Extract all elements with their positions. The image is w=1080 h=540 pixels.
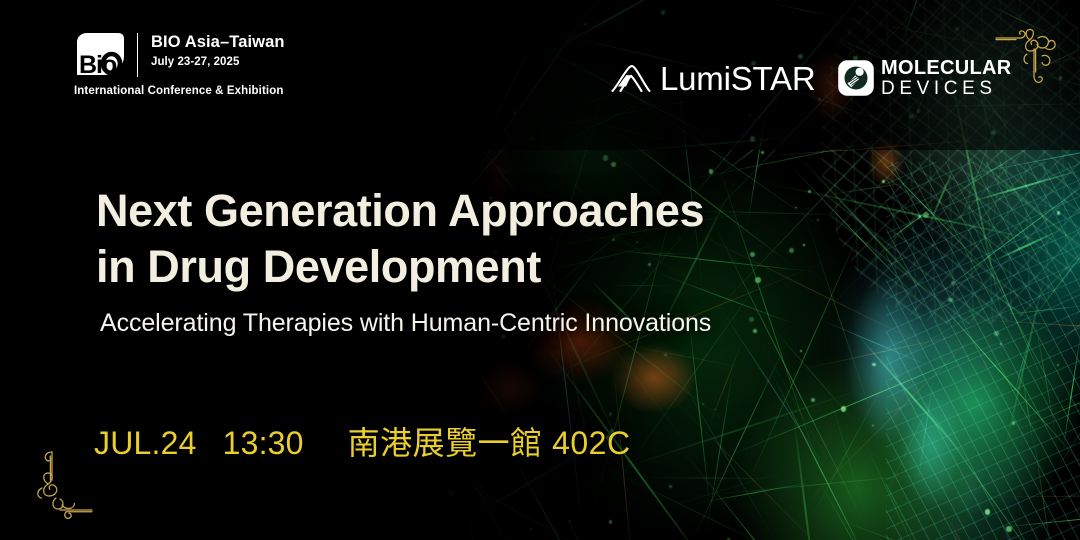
lumistar-peak-icon xyxy=(611,64,651,94)
event-venue: 南港展覽一館 402C xyxy=(348,418,631,464)
molecular-devices-wordmark: MOLECULAR DEVICES xyxy=(881,58,1011,98)
banner-content: Bio BIO Asia–Taiwan July 23-27, 2025 Int… xyxy=(0,0,1080,540)
subheadline: Accelerating Therapies with Human-Centri… xyxy=(100,309,711,338)
conference-name: BIO Asia–Taiwan xyxy=(151,33,285,52)
bio-asia-taiwan-logo[interactable]: Bio BIO Asia–Taiwan July 23-27, 2025 Int… xyxy=(74,32,285,97)
headline-line-2: in Drug Development xyxy=(96,239,704,295)
event-time: 13:30 xyxy=(223,425,304,462)
bio-logo-titles: BIO Asia–Taiwan July 23-27, 2025 xyxy=(151,32,285,68)
ornament-top-right xyxy=(994,18,1068,106)
event-banner: Bio BIO Asia–Taiwan July 23-27, 2025 Int… xyxy=(0,0,1080,540)
bio-logo-mark: Bio xyxy=(74,32,126,78)
ornament-bottom-left xyxy=(22,450,106,532)
lumistar-logo[interactable]: LumiSTAR xyxy=(611,62,816,95)
molecular-devices-line1: MOLECULAR xyxy=(881,58,1011,78)
gold-filigree-icon xyxy=(22,450,106,532)
bio-logo-top-row: Bio BIO Asia–Taiwan July 23-27, 2025 xyxy=(74,32,285,78)
event-details: JUL.24 13:30 南港展覽一館 402C xyxy=(94,418,631,464)
conference-tagline: International Conference & Exhibition xyxy=(74,85,283,97)
headline-line-1: Next Generation Approaches xyxy=(96,185,704,236)
headline: Next Generation Approaches in Drug Devel… xyxy=(96,183,704,295)
molecular-devices-icon xyxy=(837,59,875,97)
gold-filigree-icon xyxy=(994,18,1068,106)
molecular-devices-logo[interactable]: MOLECULAR DEVICES xyxy=(837,58,1011,98)
banner-header: Bio BIO Asia–Taiwan July 23-27, 2025 Int… xyxy=(0,0,1080,150)
event-date: JUL.24 xyxy=(94,425,197,462)
conference-dates: July 23-27, 2025 xyxy=(151,56,285,68)
molecular-devices-line2: DEVICES xyxy=(881,79,1011,98)
lumistar-wordmark: LumiSTAR xyxy=(660,62,816,95)
bio-logo-divider xyxy=(137,33,138,77)
